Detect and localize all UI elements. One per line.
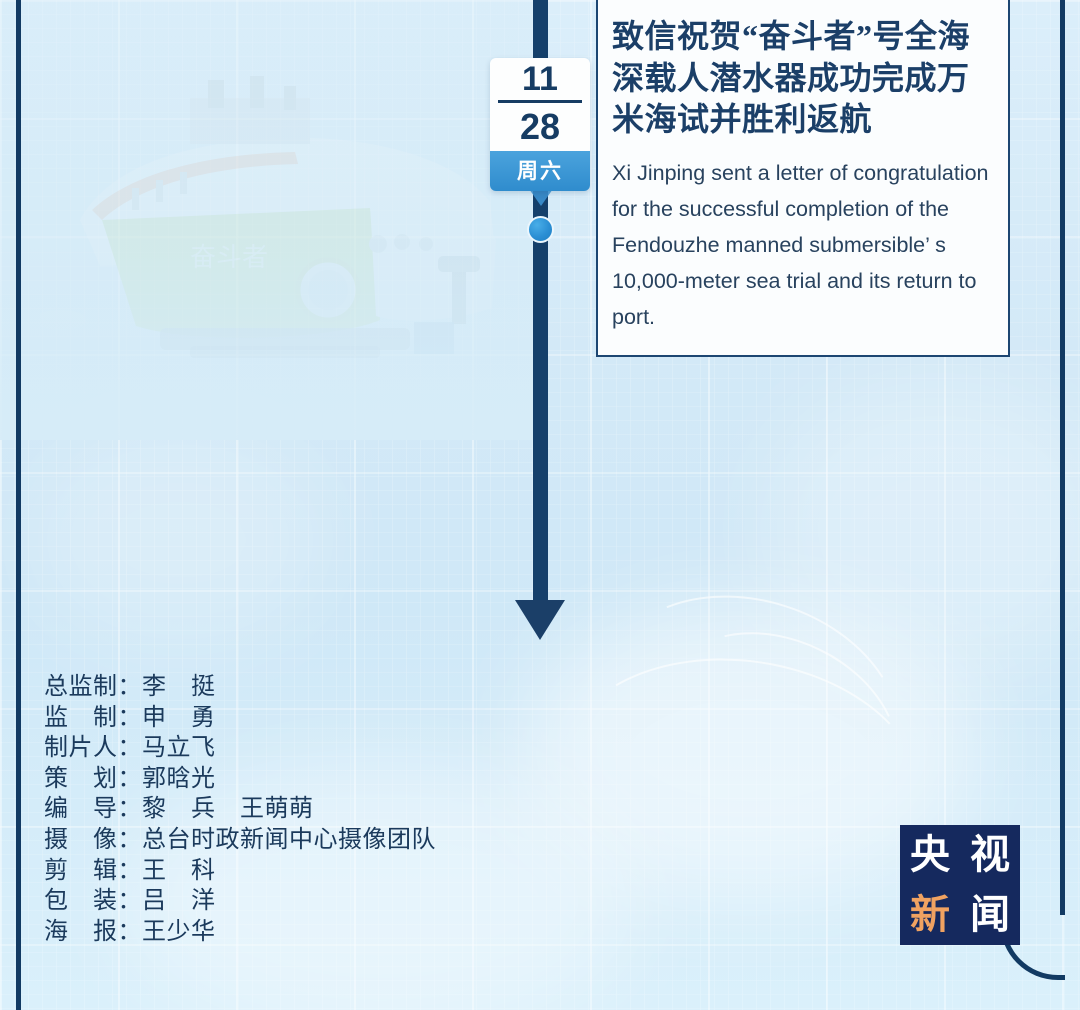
news-card: 致信祝贺“奋斗者”号全海深载人潜水器成功完成万米海试并胜利返航 Xi Jinpi… [596,0,1010,357]
credit-name: 黎 兵 王萌萌 [142,795,314,822]
water-spray-arc [573,559,931,866]
credit-role: 监 制： [44,704,142,731]
credits-list: 总监制：李 挺监 制：申 勇制片人：马立飞策 划：郭晗光编 导：黎 兵 王萌萌摄… [44,672,436,947]
logo-char-yang: 央 [910,835,950,875]
credit-row: 编 导：黎 兵 王萌萌 [44,794,436,825]
credit-name: 申 勇 [142,704,216,731]
credit-name: 李 挺 [142,673,216,700]
credit-name: 王少华 [142,918,216,945]
credit-row: 制片人：马立飞 [44,733,436,764]
right-border-rule [1060,0,1065,915]
headline-english: Xi Jinping sent a letter of congratulati… [612,155,992,336]
water-spray-arc [545,636,939,928]
credit-role: 制片人： [44,734,142,761]
date-day: 28 [490,103,590,145]
poster-canvas: 奋斗者 11 28 周六 致信祝贺“奋斗者”号全海深载人潜水器成功完成万米海试并… [0,0,1080,1010]
logo-char-xin: 新 [910,895,950,935]
logo-char-wen: 闻 [970,895,1010,935]
submersible-photo: 奋斗者 [40,70,510,410]
timeline-arrow-icon [515,600,565,640]
credit-row: 包 装：吕 洋 [44,886,436,917]
credit-row: 剪 辑：王 科 [44,856,436,887]
credit-row: 海 报：王少华 [44,917,436,948]
svg-text:奋斗者: 奋斗者 [190,242,268,272]
date-weekday: 周六 [490,151,590,191]
credit-role: 剪 辑： [44,857,142,884]
credit-role: 总监制： [44,673,142,700]
left-border-rule [16,0,21,1010]
credit-name: 王 科 [142,857,216,884]
photo-fade-overlay [0,0,540,440]
timeline-marker-dot[interactable] [527,216,554,243]
credit-role: 策 划： [44,765,142,792]
credit-role: 海 报： [44,918,142,945]
credit-role: 编 导： [44,795,142,822]
date-badge: 11 28 周六 [490,58,590,191]
credit-name: 郭晗光 [142,765,216,792]
credit-role: 摄 像： [44,826,142,853]
credit-row: 摄 像：总台时政新闻中心摄像团队 [44,825,436,856]
credit-row: 策 划：郭晗光 [44,764,436,795]
credit-row: 总监制：李 挺 [44,672,436,703]
background-blotch [760,380,1080,680]
credit-name: 马立飞 [142,734,216,761]
headline-chinese: 致信祝贺“奋斗者”号全海深载人潜水器成功完成万米海试并胜利返航 [612,16,992,141]
credit-name: 总台时政新闻中心摄像团队 [142,826,436,853]
cctv-news-logo: 央 视 新 闻 [900,825,1020,945]
logo-char-shi: 视 [970,835,1010,875]
date-month: 11 [490,62,590,100]
credit-role: 包 装： [44,887,142,914]
credit-name: 吕 洋 [142,887,216,914]
background-blotch [30,430,330,650]
water-spray-arc [634,595,930,858]
credit-row: 监 制：申 勇 [44,703,436,734]
date-badge-top: 11 28 [490,58,590,151]
